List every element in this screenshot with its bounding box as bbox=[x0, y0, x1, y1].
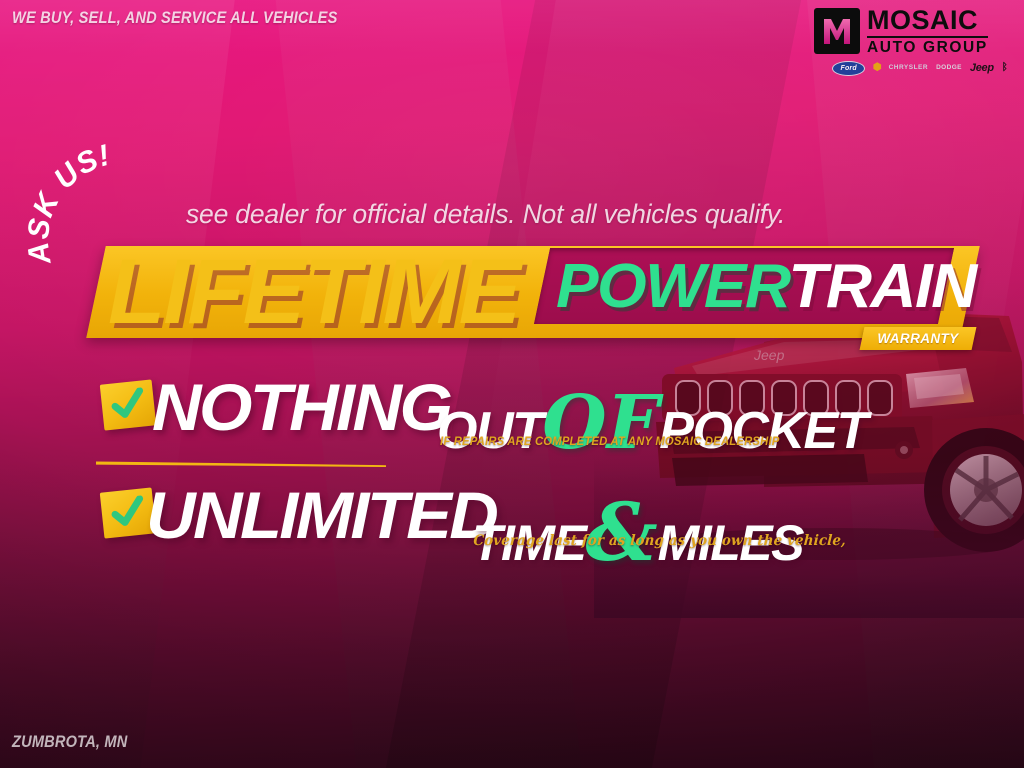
promotional-banner: Jeep bbox=[0, 0, 1024, 768]
lifetime-headline: LIFETIME bbox=[108, 246, 519, 338]
gold-divider-line bbox=[96, 460, 386, 467]
logo-name-line1: MOSAIC bbox=[867, 7, 988, 34]
logo-name-line2: AUTO GROUP bbox=[867, 40, 988, 56]
benefit-main-word: NOTHING bbox=[152, 374, 450, 440]
warranty-tag-label: WARRANTY bbox=[862, 327, 974, 350]
benefit-main-word: UNLIMITED bbox=[146, 482, 496, 548]
jeep-logo: Jeep bbox=[970, 63, 994, 74]
brand-logo-strip: Ford ⬢ CHRYSLER DODGE Jeep ᛒ bbox=[814, 61, 1010, 76]
logo-divider-rule bbox=[867, 36, 988, 38]
mosaic-m-mark-icon bbox=[814, 8, 860, 54]
benefit-sub-after: POCKET bbox=[659, 402, 867, 460]
header-tagline: WE BUY, SELL, AND SERVICE ALL VEHICLES bbox=[12, 8, 338, 28]
power-word: POWER bbox=[556, 252, 788, 321]
dodge-logo: DODGE bbox=[936, 65, 962, 72]
chrysler-logo: CHRYSLER bbox=[889, 65, 929, 72]
benefit-sub-before: OUT bbox=[437, 402, 542, 460]
disclaimer-text: see dealer for official details. Not all… bbox=[186, 199, 785, 230]
ram-logo: ᛒ bbox=[1002, 63, 1008, 73]
benefit-fineprint: Coverage last for as long as you own the… bbox=[473, 532, 847, 549]
logo-wordmark: MOSAIC AUTO GROUP bbox=[867, 6, 988, 56]
chevrolet-logo: ⬢ bbox=[873, 63, 881, 73]
logo-row: MOSAIC AUTO GROUP bbox=[814, 6, 1010, 56]
benefit-sub-phrase: OUTOFPOCKET bbox=[437, 386, 867, 460]
train-word: TRAIN bbox=[788, 252, 975, 321]
dealer-city-label: ZUMBROTA, MN bbox=[12, 732, 127, 752]
ford-logo: Ford bbox=[832, 61, 864, 76]
benefit-fineprint: IF REPAIRS ARE COMPLETED AT ANY MOSAIC D… bbox=[440, 434, 780, 448]
benefit-sub-script: OF bbox=[542, 380, 659, 466]
powertrain-headline: POWERTRAIN bbox=[556, 256, 976, 318]
mosaic-auto-group-logo[interactable]: MOSAIC AUTO GROUP Ford ⬢ CHRYSLER DODGE … bbox=[814, 6, 1010, 76]
checkbox-checked-icon bbox=[100, 379, 157, 430]
warranty-tag: WARRANTY bbox=[860, 327, 977, 350]
